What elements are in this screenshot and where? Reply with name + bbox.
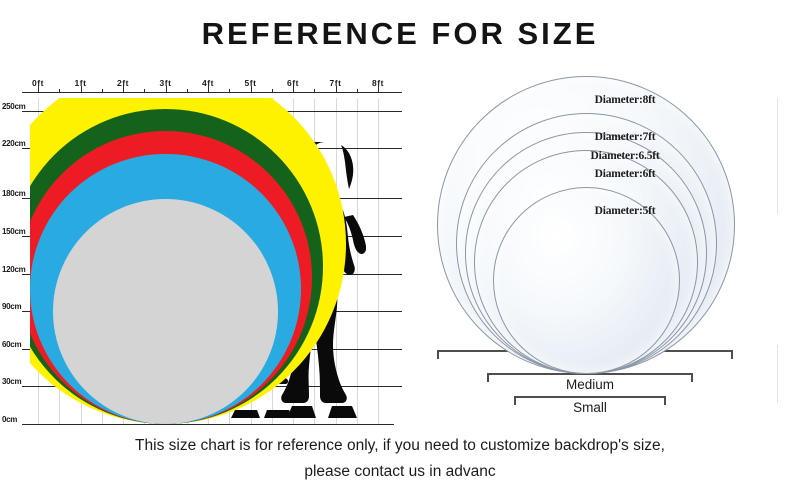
bracket-cap-left — [437, 350, 439, 359]
y-axis-tick-label: 150cm — [2, 227, 25, 236]
bracket-bar — [514, 396, 666, 398]
x-axis-tick-label: 8ft — [372, 78, 384, 88]
disc-diameter-panel: Diameter:8ftDiameter:7ftDiameter:6.5ftDi… — [425, 60, 800, 430]
bracket-cap-left — [514, 396, 516, 405]
bracket-cap-right — [731, 350, 733, 359]
footer-line-1: This size chart is for reference only, i… — [0, 433, 800, 459]
x-axis-minor-tick — [144, 89, 145, 93]
x-axis-tick-label: 5ft — [245, 78, 257, 88]
x-axis-minor-tick — [102, 89, 103, 93]
x-axis-minor-tick — [272, 89, 273, 93]
x-axis-line — [22, 92, 402, 93]
x-axis-minor-tick — [357, 89, 358, 93]
x-axis-tick-label: 4ft — [202, 78, 214, 88]
disc-label-8ft: Diameter:8ft — [595, 94, 656, 106]
x-axis-tick-label: 6ft — [287, 78, 299, 88]
disc-label-6-5ft: Diameter:6.5ft — [590, 150, 659, 162]
y-axis-rule — [22, 424, 394, 425]
x-axis-minor-tick — [187, 89, 188, 93]
bracket-label-medium: Medium — [566, 377, 614, 392]
disc-label-5ft: Diameter:5ft — [595, 205, 656, 217]
y-axis-tick-label: 90cm — [2, 302, 21, 311]
y-axis-tick-label: 250cm — [2, 102, 25, 111]
x-axis-tick-label: 2ft — [117, 78, 129, 88]
panel-right-edge-upper — [777, 98, 778, 214]
disc-label-7ft: Diameter:7ft — [595, 131, 656, 143]
bracket-cap-left — [487, 373, 489, 382]
bracket-cap-right — [691, 373, 693, 382]
x-axis-minor-tick — [59, 89, 60, 93]
height-reference-chart: 0ft1ft2ft3ft4ft5ft6ft7ft8ft 250cm220cm18… — [0, 78, 420, 430]
backdrop-arc-5ft — [53, 199, 278, 424]
page-title: REFERENCE FOR SIZE — [0, 16, 800, 52]
bracket-cap-right — [664, 396, 666, 405]
x-axis-tick-label: 1ft — [75, 78, 87, 88]
footer-line-2: please contact us in advanc — [0, 459, 800, 485]
x-axis-tick-label: 7ft — [330, 78, 342, 88]
vertical-gridline — [378, 98, 379, 424]
y-axis-tick-label: 120cm — [2, 265, 25, 274]
disc-label-6ft: Diameter:6ft — [595, 168, 656, 180]
footer-note: This size chart is for reference only, i… — [0, 433, 800, 485]
x-axis-minor-tick — [229, 89, 230, 93]
y-axis-tick-label: 0cm — [2, 415, 17, 424]
size-chart-page: REFERENCE FOR SIZE 0ft1ft2ft3ft4ft5ft6ft… — [0, 0, 800, 488]
y-axis-tick-label: 30cm — [2, 377, 21, 386]
chart-plot-area: 8ft7ft6.5ft6ft5ft — [30, 98, 402, 424]
bracket-label-small: Small — [573, 400, 607, 415]
y-axis-tick-label: 180cm — [2, 189, 25, 198]
x-axis-minor-tick — [314, 89, 315, 93]
y-axis-tick-label: 220cm — [2, 139, 25, 148]
panel-right-edge-lower — [777, 345, 778, 403]
y-axis-tick-label: 60cm — [2, 340, 21, 349]
x-axis-tick-label: 0ft — [32, 78, 44, 88]
x-axis-tick-label: 3ft — [160, 78, 172, 88]
